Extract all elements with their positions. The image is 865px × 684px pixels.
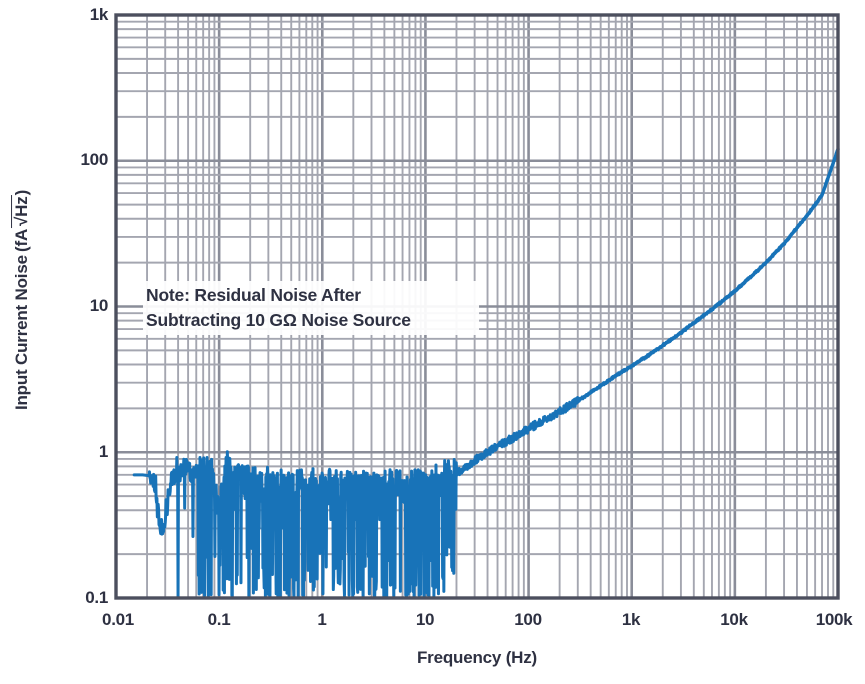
plot-area	[0, 0, 865, 684]
series-line	[134, 149, 838, 598]
series-input-current-noise	[134, 149, 838, 598]
note-line-2: Subtracting 10 GΩ Noise Source	[146, 308, 476, 333]
chart-figure: Input Current Noise (fA√Hz) 1k 100 10 1 …	[0, 0, 865, 684]
residual-noise-note: Note: Residual Noise After Subtracting 1…	[143, 281, 479, 335]
note-line-1: Note: Residual Noise After	[146, 283, 476, 308]
